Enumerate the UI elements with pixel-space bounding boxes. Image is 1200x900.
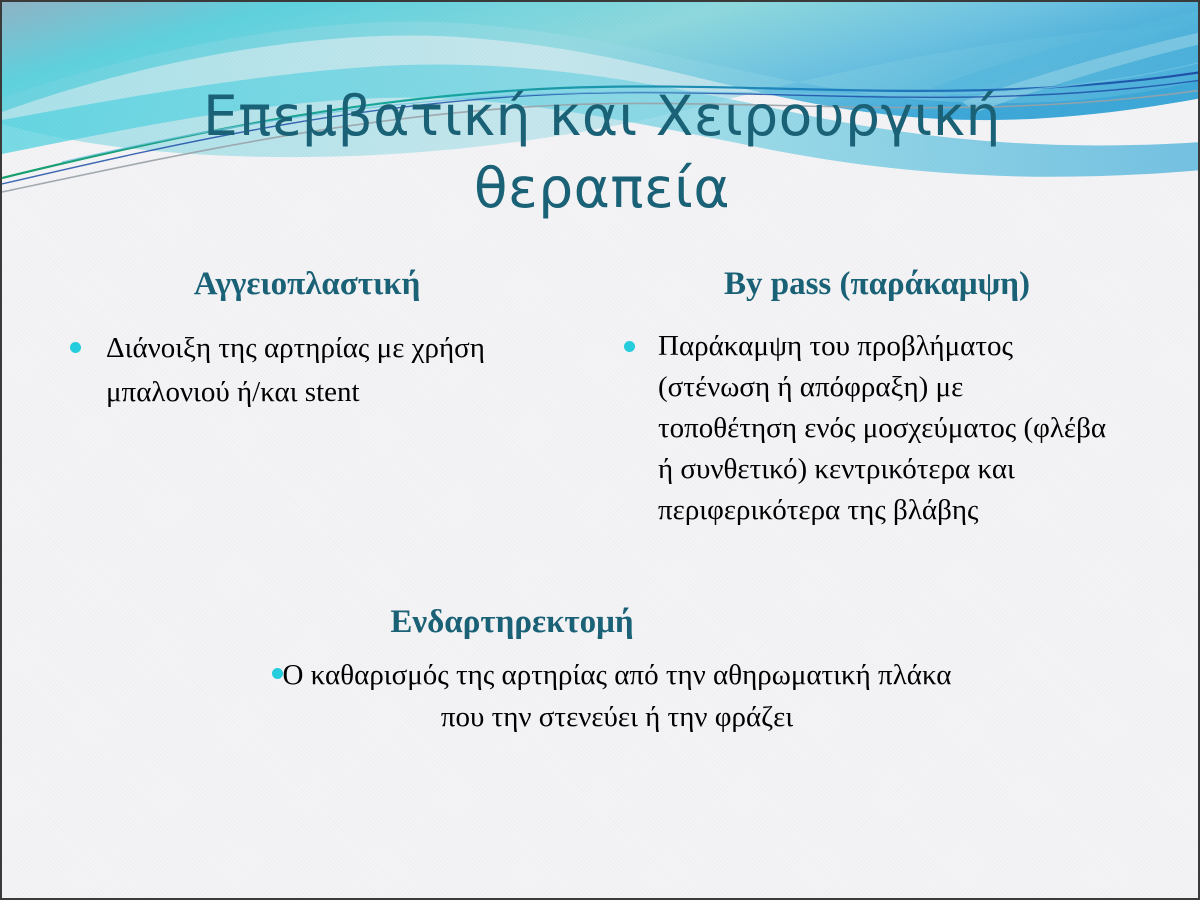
bullet-dot-icon <box>70 342 81 353</box>
content-columns: Αγγειοπλαστική Διάνοιξη της αρτηρίας με … <box>2 264 1200 594</box>
column-left-heading: Αγγειοπλαστική <box>42 264 602 304</box>
bullet-dot-icon <box>272 668 283 679</box>
column-right-heading: By pass (παράκαμψη) <box>602 264 1162 304</box>
column-right-bullet-1: Παράκαμψη του προβλήματος (στένωση ή από… <box>658 326 1108 531</box>
bottom-bullet-list: Ο καθαρισμός της αρτηρίας από την αθηρωμ… <box>242 654 962 738</box>
column-left-bullet-1: Διάνοιξη της αρτηρίας με χρήση μπαλονιού… <box>106 326 526 414</box>
column-angioplasty: Αγγειοπλαστική Διάνοιξη της αρτηρίας με … <box>42 264 602 414</box>
bottom-bullet-1: Ο καθαρισμός της αρτηρίας από την αθηρωμ… <box>242 654 962 738</box>
column-bypass: By pass (παράκαμψη) Παράκαμψη του προβλή… <box>602 264 1162 531</box>
list-item: Παράκαμψη του προβλήματος (στένωση ή από… <box>602 326 1162 531</box>
section-endarterectomy: Ενδαρτηρεκτομή Ο καθαρισμός της αρτηρίας… <box>2 602 1200 738</box>
slide-title: Επεμβατική και Χειρουργική θεραπεία <box>2 80 1200 224</box>
slide-title-line-2: θεραπεία <box>2 152 1200 224</box>
bullet-dot-icon <box>624 341 635 352</box>
list-item: Διάνοιξη της αρτηρίας με χρήση μπαλονιού… <box>42 326 602 414</box>
slide-title-line-1: Επεμβατική και Χειρουργική <box>2 80 1200 152</box>
list-item: Ο καθαρισμός της αρτηρίας από την αθηρωμ… <box>242 654 962 738</box>
presentation-slide: Επεμβατική και Χειρουργική θεραπεία Αγγε… <box>0 0 1200 900</box>
column-left-bullet-list: Διάνοιξη της αρτηρίας με χρήση μπαλονιού… <box>42 326 602 414</box>
column-right-bullet-list: Παράκαμψη του προβλήματος (στένωση ή από… <box>602 326 1162 531</box>
bottom-section-heading: Ενδαρτηρεκτομή <box>2 602 1200 642</box>
